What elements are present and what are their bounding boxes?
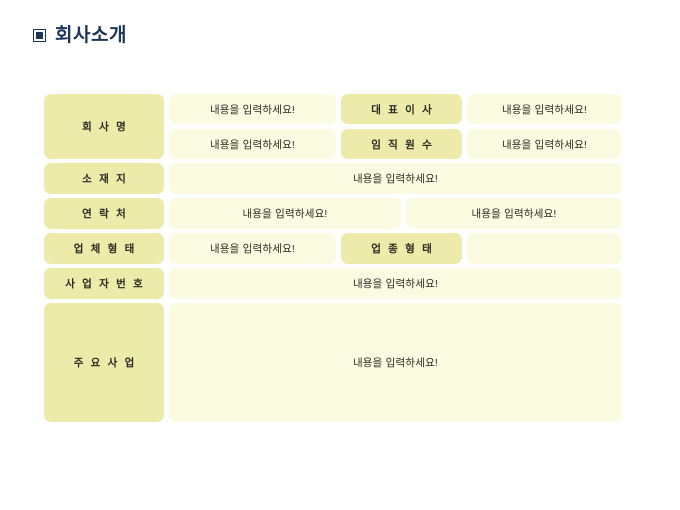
row-label-main-business: 주 요 사 업 bbox=[44, 303, 164, 422]
field-ceo[interactable]: 내용을 입력하세요! bbox=[467, 94, 622, 124]
field-location[interactable]: 내용을 입력하세요! bbox=[169, 163, 622, 194]
field-contact-primary[interactable]: 내용을 입력하세요! bbox=[169, 198, 401, 229]
field-business-number[interactable]: 내용을 입력하세요! bbox=[169, 268, 622, 299]
field-company-type[interactable]: 내용을 입력하세요! bbox=[169, 233, 336, 264]
row-label-business-number: 사 업 자 번 호 bbox=[44, 268, 164, 299]
field-business-type[interactable] bbox=[467, 233, 622, 264]
row-label-contact: 연 락 처 bbox=[44, 198, 164, 229]
row-label-location: 소 재 지 bbox=[44, 163, 164, 194]
table-row: 사 업 자 번 호 내용을 입력하세요! bbox=[44, 268, 622, 299]
field-employee-count[interactable]: 내용을 입력하세요! bbox=[467, 129, 622, 159]
field-contact-secondary[interactable]: 내용을 입력하세요! bbox=[406, 198, 622, 229]
row-company-name-values: 내용을 입력하세요! 대 표 이 사 내용을 입력하세요! 내용을 입력하세요!… bbox=[169, 94, 622, 159]
table-row: 주 요 사 업 내용을 입력하세요! bbox=[44, 303, 622, 422]
row-label-company-type: 업 체 형 태 bbox=[44, 233, 164, 264]
row-label-employee-count: 임 직 원 수 bbox=[341, 129, 462, 159]
filled-square-bullet-icon bbox=[33, 29, 46, 42]
page-title: 회사소개 bbox=[33, 26, 127, 45]
table-subrow: 내용을 입력하세요! 대 표 이 사 내용을 입력하세요! bbox=[169, 94, 622, 124]
page-title-text: 회사소개 bbox=[55, 26, 127, 45]
row-label-business-type: 업 종 형 태 bbox=[341, 233, 462, 264]
slide-canvas: { "slide": { "title": "회사소개", "bullet_ic… bbox=[0, 0, 680, 510]
field-main-business[interactable]: 내용을 입력하세요! bbox=[169, 303, 622, 422]
table-row: 업 체 형 태 내용을 입력하세요! 업 종 형 태 bbox=[44, 233, 622, 264]
table-row: 회 사 명 내용을 입력하세요! 대 표 이 사 내용을 입력하세요! 내용을 … bbox=[44, 94, 622, 159]
table-row: 소 재 지 내용을 입력하세요! bbox=[44, 163, 622, 194]
table-subrow: 내용을 입력하세요! 임 직 원 수 내용을 입력하세요! bbox=[169, 129, 622, 159]
company-info-table: 회 사 명 내용을 입력하세요! 대 표 이 사 내용을 입력하세요! 내용을 … bbox=[44, 94, 622, 426]
row-label-ceo: 대 표 이 사 bbox=[341, 94, 462, 124]
field-company-name[interactable]: 내용을 입력하세요! bbox=[169, 94, 336, 124]
row-label-company-name: 회 사 명 bbox=[44, 94, 164, 159]
field-company-name-secondary[interactable]: 내용을 입력하세요! bbox=[169, 129, 336, 159]
table-row: 연 락 처 내용을 입력하세요! 내용을 입력하세요! bbox=[44, 198, 622, 229]
